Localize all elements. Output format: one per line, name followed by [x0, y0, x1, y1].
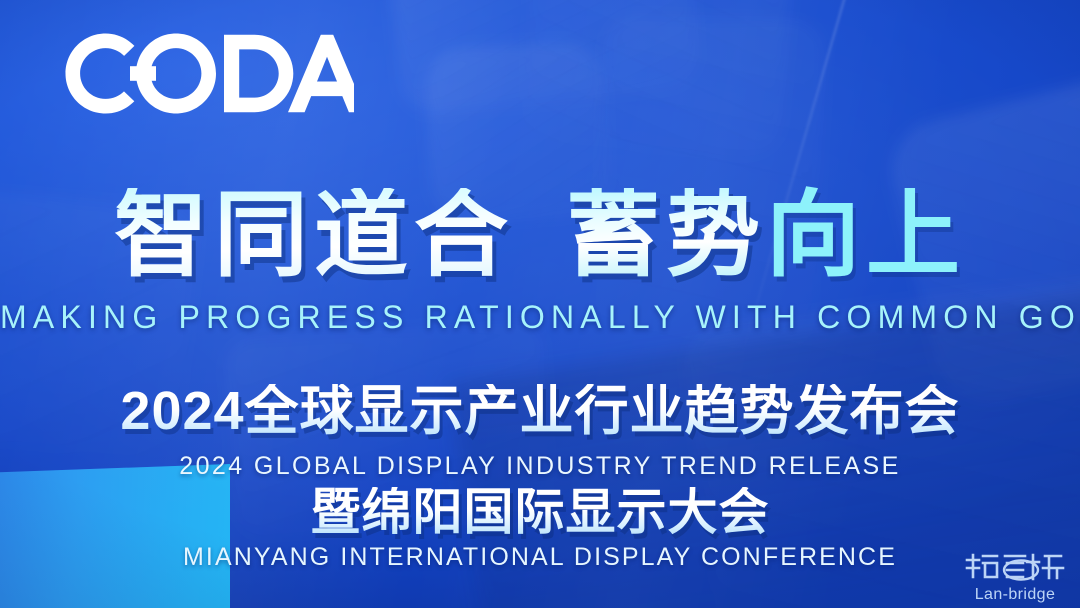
headline-chinese: 智同道合蓄势向上 [0, 188, 1080, 282]
poster-canvas: 智同道合蓄势向上 MAKING PROGRESS RATIONALLY WITH… [0, 0, 1080, 608]
lanbridge-label: Lan-bridge [956, 586, 1074, 604]
conference-subtitle-cn: 暨绵阳国际显示大会 [0, 487, 1080, 537]
lanbridge-mark-icon [963, 551, 1067, 585]
lanbridge-watermark: Lan-bridge [956, 551, 1074, 604]
conference-subtitle-en: MIANYANG INTERNATIONAL DISPLAY CONFERENC… [0, 543, 1080, 572]
conference-title-en: 2024 GLOBAL DISPLAY INDUSTRY TREND RELEA… [0, 452, 1080, 481]
poster-content: 智同道合蓄势向上 MAKING PROGRESS RATIONALLY WITH… [0, 0, 1080, 608]
headline-cn-part-2: 蓄势 [566, 188, 766, 282]
headline-english: MAKING PROGRESS RATIONALLY WITH COMMON G… [0, 299, 1080, 336]
conference-title-cn: 2024全球显示产业行业趋势发布会 [0, 384, 1080, 438]
headline-cn-part-1: 智同道合 [114, 188, 514, 282]
coda-logo [64, 33, 354, 115]
headline-cn-part-3: 向上 [766, 188, 966, 282]
